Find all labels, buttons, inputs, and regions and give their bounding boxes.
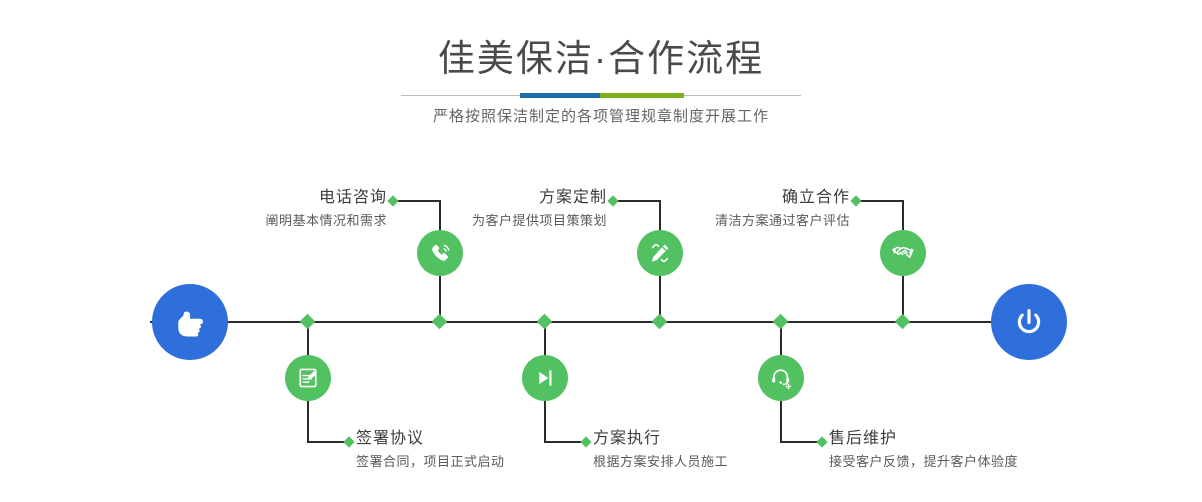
step-2-elbow-vertical <box>307 401 309 442</box>
step-3-axis-diamond <box>652 314 668 330</box>
step-2-icon-node[interactable] <box>285 355 331 401</box>
step-1-desc: 阐明基本情况和需求 <box>189 211 387 231</box>
divider-segment-blue <box>520 93 600 98</box>
timeline-end-node[interactable] <box>991 284 1067 360</box>
step-5-icon-node[interactable] <box>758 355 804 401</box>
step-5-label: 售后维护 接受客户反馈，提升客户体验度 <box>829 428 1079 472</box>
headset-support-icon <box>768 365 794 391</box>
step-2-label: 签署协议 签署合同，项目正式启动 <box>356 428 586 472</box>
power-icon <box>1008 301 1050 343</box>
step-5-axis-diamond <box>773 314 789 330</box>
play-execute-icon <box>532 365 558 391</box>
step-6-label: 确立合作 清洁方案通过客户评估 <box>645 187 850 231</box>
handshake-icon <box>890 240 916 266</box>
step-6-elbow-horizontal <box>857 200 904 202</box>
step-1-label-diamond <box>387 195 398 206</box>
step-6-desc: 清洁方案通过客户评估 <box>645 211 850 231</box>
step-1-title: 电话咨询 <box>189 187 387 209</box>
step-4-title: 方案执行 <box>593 428 823 450</box>
divider-segment-green <box>600 93 684 98</box>
phone-call-icon <box>427 240 454 267</box>
step-2-label-diamond <box>343 436 354 447</box>
step-6-elbow-vertical <box>902 200 904 232</box>
step-2-elbow-horizontal <box>307 441 348 443</box>
step-4-axis-diamond <box>537 314 553 330</box>
step-1-axis-diamond <box>432 314 448 330</box>
step-3-icon-node[interactable] <box>637 230 683 276</box>
flow-diagram-page: 佳美保洁·合作流程 严格按照保洁制定的各项管理规章制度开展工作 <box>0 0 1202 502</box>
page-title: 佳美保洁·合作流程 <box>0 36 1202 82</box>
pencil-ruler-icon <box>647 240 673 266</box>
step-3-desc: 为客户提供项目策策划 <box>400 211 607 231</box>
pointing-hand-icon <box>169 301 211 343</box>
document-edit-icon <box>295 365 321 391</box>
step-4-desc: 根据方案安排人员施工 <box>593 452 823 472</box>
timeline-start-node[interactable] <box>152 284 228 360</box>
step-2-axis-diamond <box>300 314 316 330</box>
step-6-axis-diamond <box>895 314 911 330</box>
page-subtitle: 严格按照保洁制定的各项管理规章制度开展工作 <box>0 106 1202 128</box>
step-6-label-diamond <box>850 195 861 206</box>
step-6-icon-node[interactable] <box>880 230 926 276</box>
step-6-title: 确立合作 <box>645 187 850 209</box>
step-3-label: 方案定制 为客户提供项目策策划 <box>400 187 607 231</box>
step-1-label: 电话咨询 阐明基本情况和需求 <box>189 187 387 231</box>
title-divider <box>401 93 801 99</box>
step-3-label-diamond <box>607 195 618 206</box>
step-5-desc: 接受客户反馈，提升客户体验度 <box>829 452 1079 472</box>
step-3-title: 方案定制 <box>400 187 607 209</box>
step-2-title: 签署协议 <box>356 428 586 450</box>
step-2-desc: 签署合同，项目正式启动 <box>356 452 586 472</box>
step-4-label: 方案执行 根据方案安排人员施工 <box>593 428 823 472</box>
step-5-title: 售后维护 <box>829 428 1079 450</box>
step-1-icon-node[interactable] <box>417 230 463 276</box>
step-4-icon-node[interactable] <box>522 355 568 401</box>
timeline-axis <box>150 321 1052 323</box>
